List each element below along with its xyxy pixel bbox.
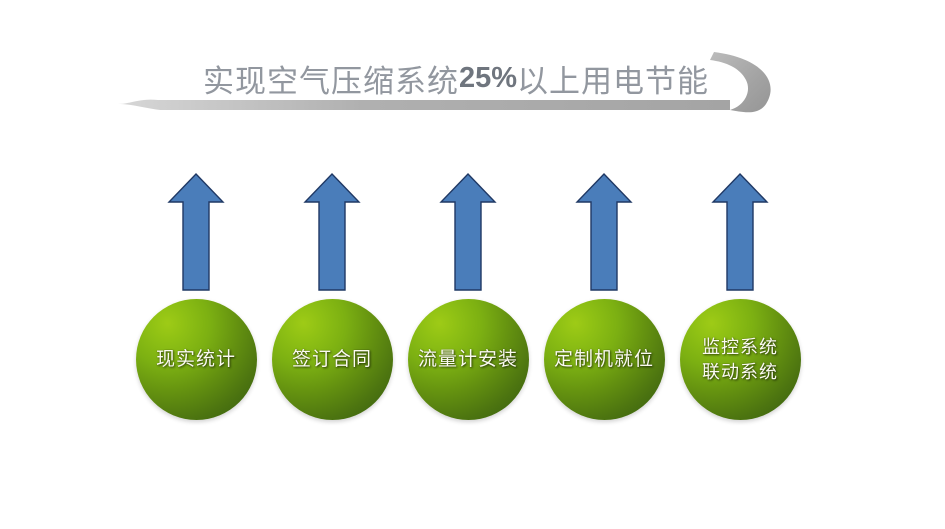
arrow-up-icon xyxy=(574,170,634,294)
arrow-up-icon xyxy=(710,170,770,294)
stage-circle-row: 现实统计 签订合同 流量计安装 定制机就位 监控系统 联动系统 xyxy=(0,299,945,423)
slide-canvas: 实现空气压缩系统25%以上用电节能 xyxy=(0,0,945,529)
stage-column-4: 定制机就位 xyxy=(536,299,672,423)
title-emphasis: 25% xyxy=(459,62,517,95)
stage-column-3: 流量计安装 xyxy=(400,299,536,423)
arrow-up-icon xyxy=(166,170,226,294)
title-banner: 实现空气压缩系统25%以上用电节能 xyxy=(118,36,798,140)
stage-circle-label-3: 流量计安装 xyxy=(418,348,518,372)
arrow-up-icon-shape xyxy=(438,170,498,294)
stage-circle-label-5: 监控系统 联动系统 xyxy=(702,335,778,385)
stage-column-2: 签订合同 xyxy=(264,299,400,423)
stage-column-1: 现实统计 xyxy=(128,299,264,423)
stage-circle-label-2: 签订合同 xyxy=(292,348,372,372)
arrow-up-icon-shape xyxy=(302,170,362,294)
title-prefix: 实现空气压缩系统 xyxy=(203,56,459,101)
stage-column-1 xyxy=(128,170,264,295)
stage-column-5: 监控系统 联动系统 xyxy=(672,299,808,423)
stage-circle-5[interactable]: 监控系统 联动系统 xyxy=(680,299,801,420)
stage-circle-4[interactable]: 定制机就位 xyxy=(544,299,665,420)
stage-column-3 xyxy=(400,170,536,295)
arrow-up-icon-shape xyxy=(710,170,770,294)
arrow-up-icon xyxy=(438,170,498,294)
arrow-row xyxy=(0,170,945,295)
title-suffix: 以上用电节能 xyxy=(517,56,709,101)
stage-circle-1[interactable]: 现实统计 xyxy=(136,299,257,420)
arrow-up-icon-shape xyxy=(166,170,226,294)
stage-column-4 xyxy=(536,170,672,295)
stage-circle-label-1: 现实统计 xyxy=(156,348,236,372)
page-title: 实现空气压缩系统25%以上用电节能 xyxy=(156,48,756,108)
stage-circle-2[interactable]: 签订合同 xyxy=(272,299,393,420)
stage-circle-3[interactable]: 流量计安装 xyxy=(408,299,529,420)
stage-column-2 xyxy=(264,170,400,295)
arrow-up-icon xyxy=(302,170,362,294)
stage-column-5 xyxy=(672,170,808,295)
arrow-up-icon-shape xyxy=(574,170,634,294)
stage-circle-label-4: 定制机就位 xyxy=(554,348,654,372)
